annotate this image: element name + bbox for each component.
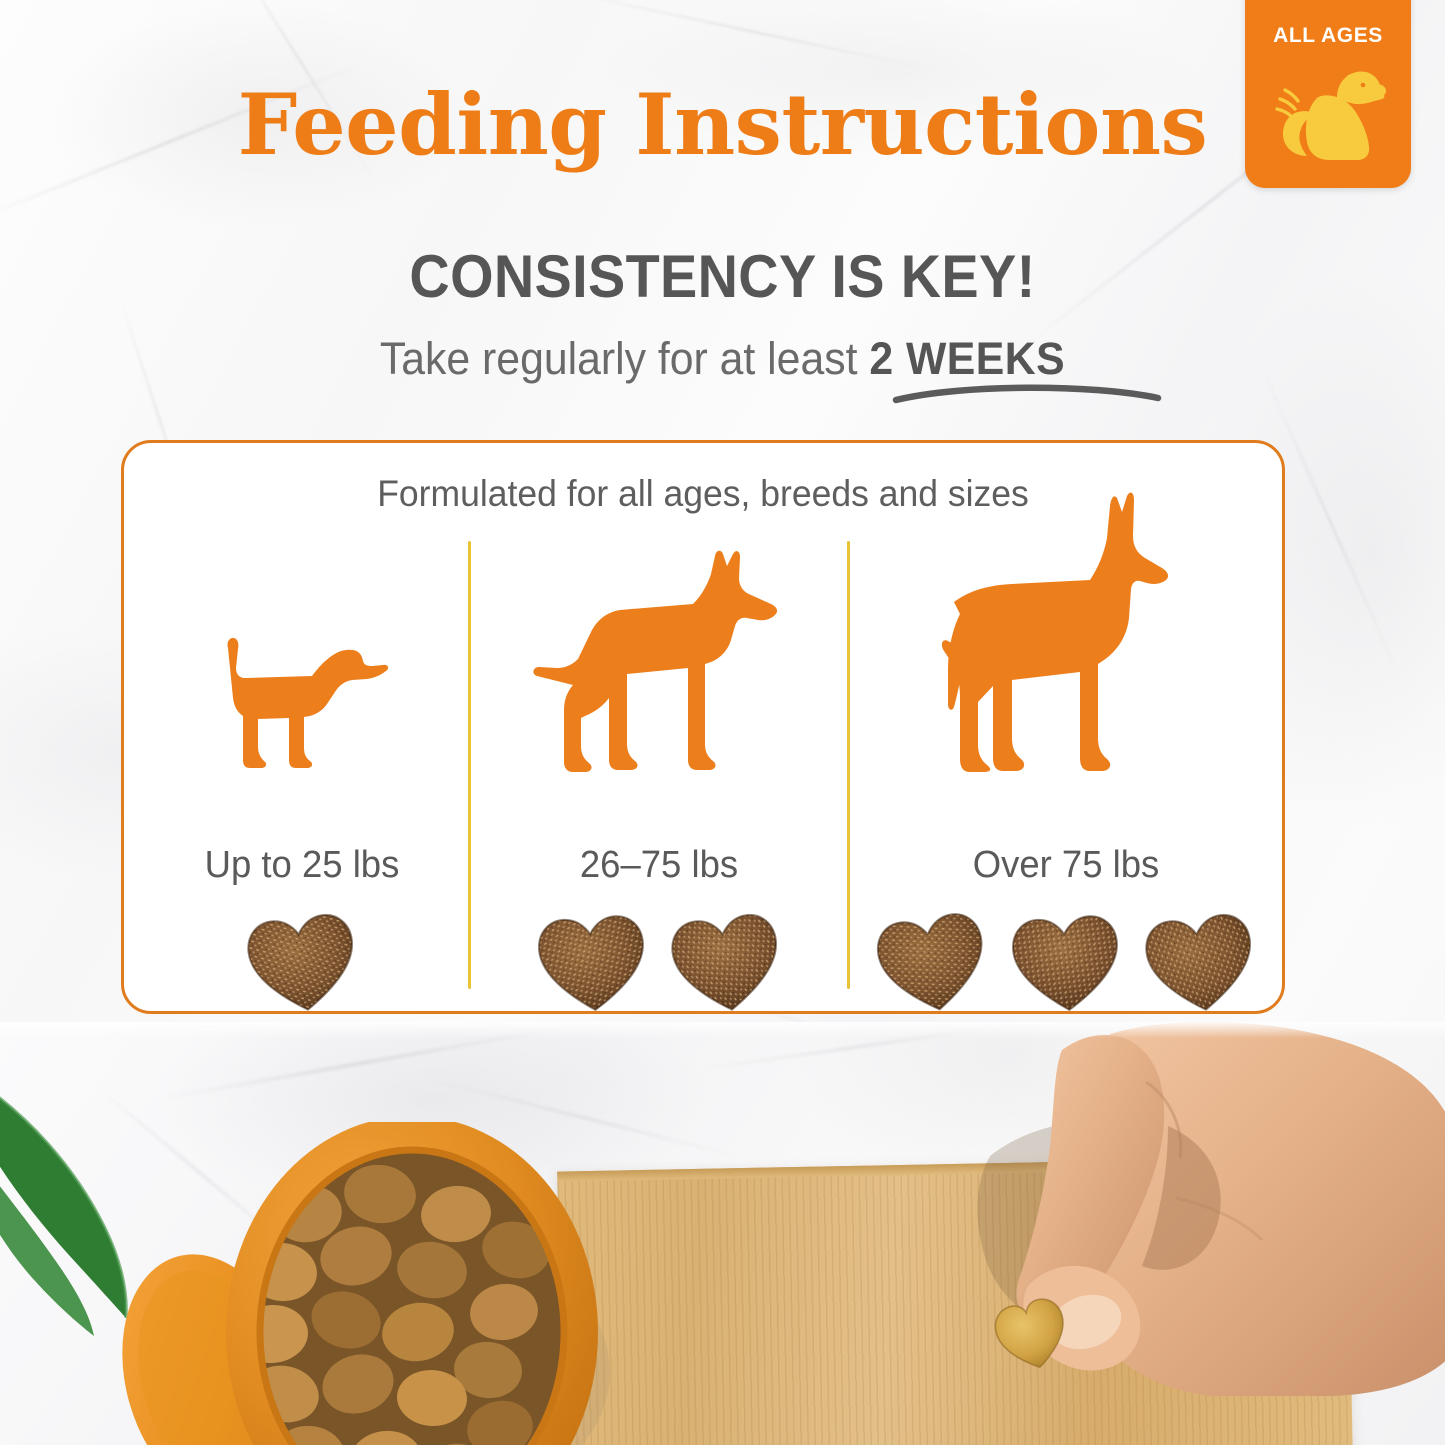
feeding-instructions-infographic: ALL AGES <box>0 0 1445 1445</box>
hand-holding-treat <box>880 1022 1445 1445</box>
treat-row-large <box>850 906 1282 1016</box>
heart-treat-icon <box>529 902 654 1020</box>
size-label-large: Over 75 lbs <box>859 846 1274 884</box>
heart-treat-icon <box>865 897 999 1024</box>
feeding-column-large: Over 75 lbs <box>850 498 1282 1018</box>
heart-treat-icon <box>1135 899 1266 1023</box>
heart-treat-icon <box>661 899 792 1023</box>
heart-treat-icon <box>1003 902 1128 1020</box>
tagline-emphasis: 2 WEEKS <box>869 333 1065 384</box>
photo-top-fade <box>0 1022 1445 1038</box>
large-dog-illustration <box>850 482 1282 772</box>
treat-row-medium <box>471 906 847 1016</box>
page-title: Feeding Instructions <box>0 83 1445 167</box>
orange-treat-container <box>60 1122 660 1445</box>
product-photo <box>0 1022 1445 1445</box>
subtitle: CONSISTENCY IS KEY! <box>51 247 1395 307</box>
medium-dog-icon <box>525 548 793 772</box>
small-dog-icon <box>204 616 400 772</box>
tagline-prefix: Take regularly for at least <box>380 333 869 384</box>
all-ages-badge-label: ALL AGES <box>1245 24 1411 48</box>
feeding-chart-card: Formulated for all ages, breeds and size… <box>121 440 1285 1014</box>
tagline: Take regularly for at least 2 WEEKS <box>36 336 1409 381</box>
small-dog-illustration <box>136 482 468 772</box>
heart-treat-icon <box>237 899 368 1023</box>
feeding-column-medium: 26–75 lbs <box>471 498 847 1018</box>
size-label-medium: 26–75 lbs <box>479 846 840 884</box>
medium-dog-illustration <box>471 482 847 772</box>
large-dog-icon <box>930 490 1202 772</box>
treat-row-small <box>136 906 468 1016</box>
feeding-column-small: Up to 25 lbs <box>136 498 468 1018</box>
underline-swoosh-icon <box>892 378 1162 406</box>
size-label-small: Up to 25 lbs <box>143 846 462 884</box>
